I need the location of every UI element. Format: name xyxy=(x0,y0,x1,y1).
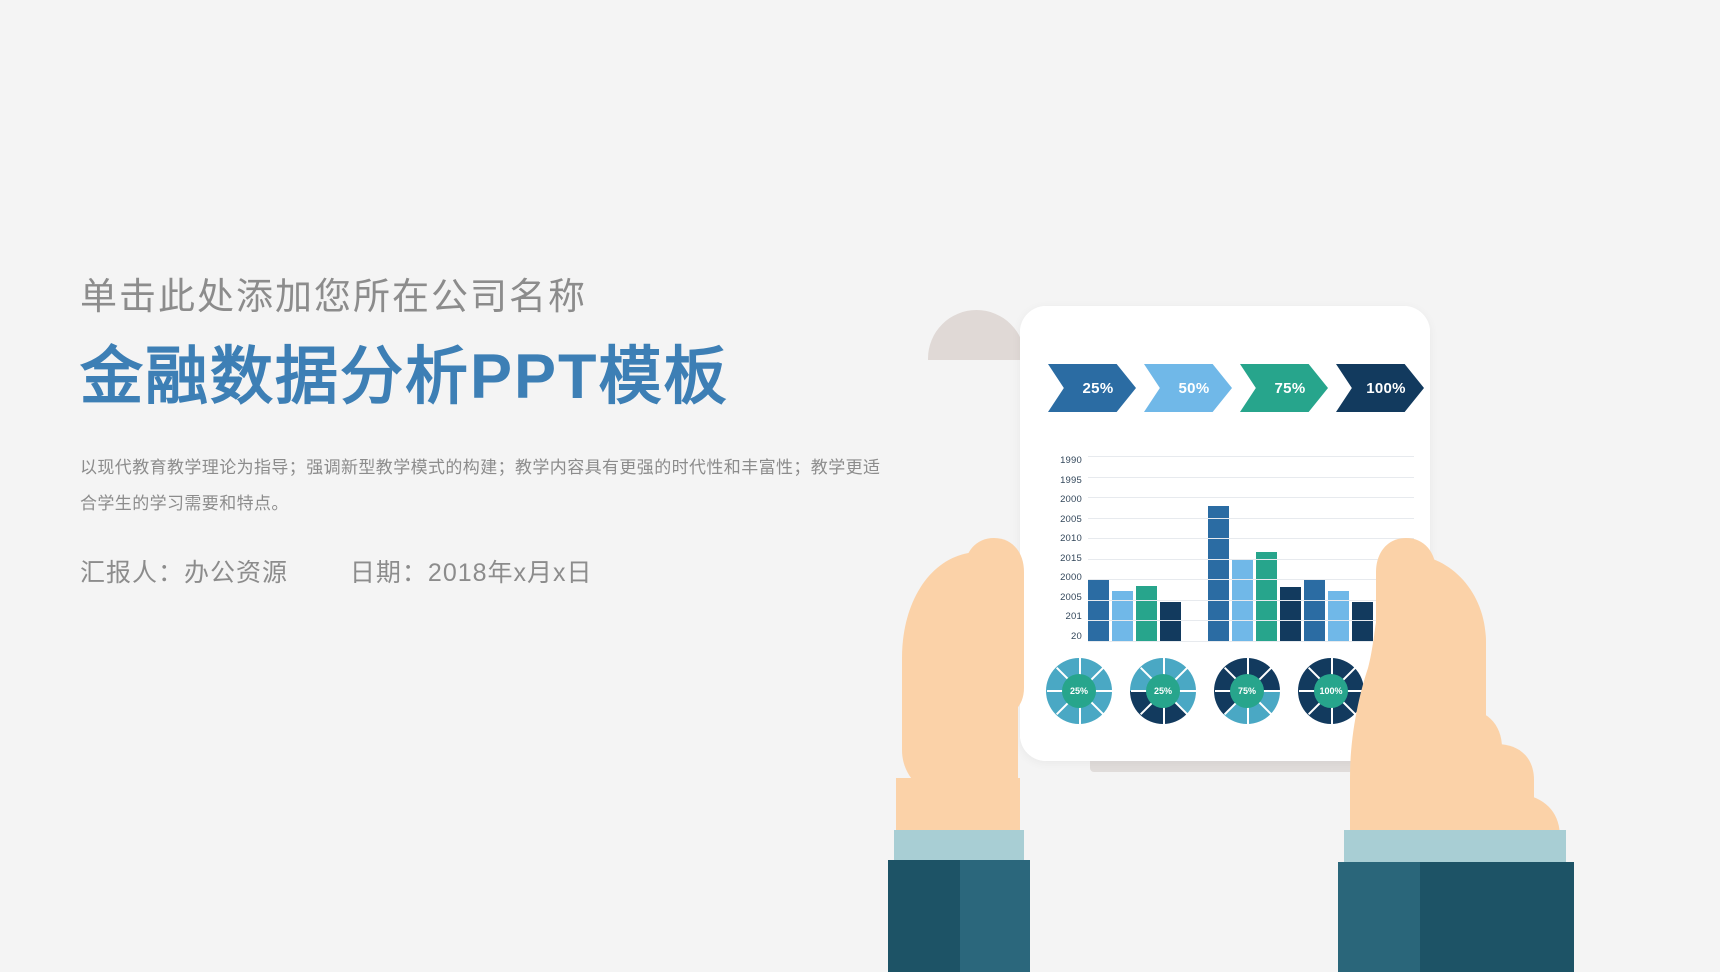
bar-b9 xyxy=(1280,587,1301,641)
donut-center-label: 75% xyxy=(1230,674,1264,708)
chevron-label: 75% xyxy=(1275,380,1306,397)
chevron-step-1: 25% xyxy=(1048,364,1136,412)
chevron-label: 50% xyxy=(1179,380,1210,397)
page-title[interactable]: 金融数据分析PPT模板 xyxy=(80,341,980,413)
chevron-step-3: 75% xyxy=(1240,364,1328,412)
gridline-1 xyxy=(1088,477,1414,478)
tablet-illustration: 25%50%75%100% 19901995200020052010201520… xyxy=(880,270,1720,972)
chevron-step-2: 50% xyxy=(1144,364,1232,412)
y-tick-2: 2000 xyxy=(1042,495,1082,505)
donut-chart-2: 25% xyxy=(1130,658,1196,724)
title-text-block: 单击此处添加您所在公司名称 金融数据分析PPT模板 以现代教育教学理论为指导；强… xyxy=(80,275,980,589)
gridline-3 xyxy=(1088,518,1414,519)
y-tick-1: 1995 xyxy=(1042,476,1082,486)
company-name-placeholder[interactable]: 单击此处添加您所在公司名称 xyxy=(80,275,980,319)
presenter-date-row: 汇报人：办公资源 日期：2018年x月x日 xyxy=(80,553,980,589)
presenter-label[interactable]: 汇报人：办公资源 xyxy=(80,559,288,587)
donut-chart-3: 75% xyxy=(1214,658,1280,724)
gridline-0 xyxy=(1088,456,1414,457)
chevron-label: 25% xyxy=(1083,380,1114,397)
y-tick-3: 2005 xyxy=(1042,515,1082,525)
bar-b8 xyxy=(1256,552,1277,641)
date-label[interactable]: 日期：2018年x月x日 xyxy=(350,559,593,587)
left-hand xyxy=(888,538,1128,972)
chevron-process-row: 25%50%75%100% xyxy=(1048,364,1424,412)
subtitle-description[interactable]: 以现代教育教学理论为指导；强调新型教学模式的构建；教学内容具有更强的时代性和丰富… xyxy=(80,450,890,521)
right-hand xyxy=(1310,538,1590,972)
bar-b4 xyxy=(1160,602,1181,641)
bar-b3 xyxy=(1136,586,1157,642)
tablet-corner-tab xyxy=(928,310,1025,360)
presentation-slide: 单击此处添加您所在公司名称 金融数据分析PPT模板 以现代教育教学理论为指导；强… xyxy=(0,0,1720,972)
donut-center-label: 25% xyxy=(1146,674,1180,708)
gridline-2 xyxy=(1088,497,1414,498)
chevron-step-4: 100% xyxy=(1336,364,1424,412)
chevron-label: 100% xyxy=(1366,380,1406,397)
y-tick-0: 1990 xyxy=(1042,456,1082,466)
